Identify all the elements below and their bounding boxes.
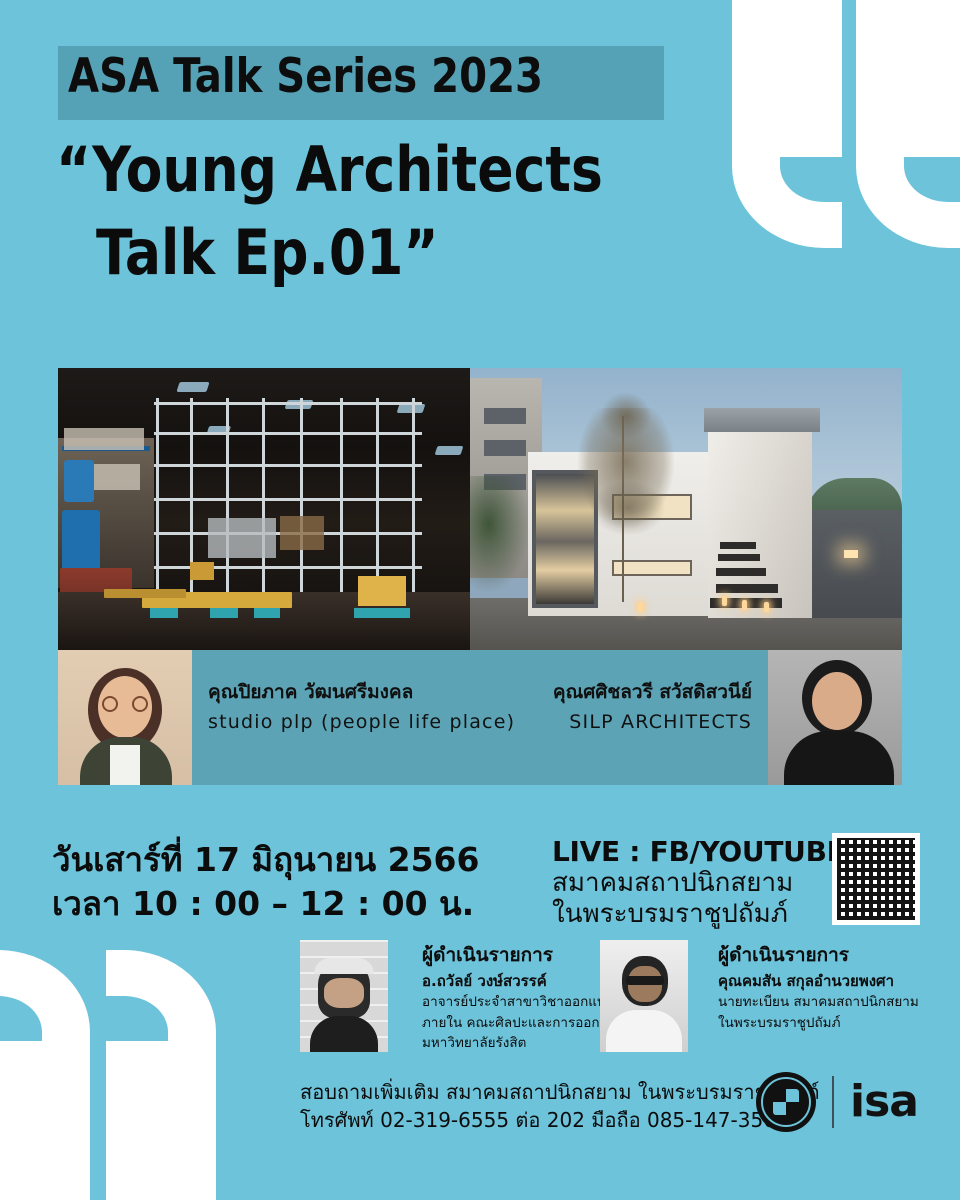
contact-line-2: โทรศัพท์ 02-319-6555 ต่อ 202 มือถือ 085-…: [300, 1106, 819, 1134]
speaker-studio: studio plp (people life place): [208, 707, 515, 737]
speakers-band: คุณปิยภาค วัฒนศรีมงคล studio plp (people…: [58, 650, 902, 785]
live-org-line2: ในพระบรมราชูปถัมภ์: [552, 899, 845, 930]
isa-wordmark: isa: [850, 1080, 918, 1124]
event-time: เวลา 10 : 00 – 12 : 00 น.: [52, 882, 479, 926]
event-date: วันเสาร์ที่ 17 มิถุนายน 2566: [52, 838, 479, 882]
speaker-info-right: คุณศศิชลวรี สวัสดิสวนีย์ SILP ARCHITECTS: [553, 678, 752, 737]
moderator-affiliation-2: ภายใน คณะศิลปะและการออกแบบ: [422, 1013, 625, 1034]
qr-code[interactable]: [832, 833, 920, 925]
speaker-info-left: คุณปิยภาค วัฒนศรีมงคล studio plp (people…: [208, 678, 515, 737]
opening-quote-decoration: [0, 956, 216, 1200]
project-photo-strip: [58, 368, 902, 650]
modern-house-photo: [470, 368, 902, 650]
moderator-name: อ.ถวัลย์ วงษ์สวรรค์: [422, 970, 625, 993]
warehouse-scaffolding-photo: [58, 368, 470, 650]
contact-footer: สอบถามเพิ่มเติม สมาคมสถาปนิกสยาม ในพระบร…: [300, 1078, 819, 1135]
moderator-affiliation-1: นายทะเบียน สมาคมสถาปนิกสยาม: [718, 992, 919, 1013]
moderators-section: ผู้ดำเนินรายการ อ.ถวัลย์ วงษ์สวรรค์ อาจา…: [300, 940, 920, 1058]
speaker-portrait-left: [58, 650, 192, 785]
wall-sconce-light-icon: [844, 550, 858, 558]
moderator-affiliation-3: มหาวิทยาลัยรังสิต: [422, 1033, 625, 1054]
moderator-info-1: ผู้ดำเนินรายการ อ.ถวัลย์ วงษ์สวรรค์ อาจา…: [422, 942, 625, 1054]
speaker-name: คุณศศิชลวรี สวัสดิสวนีย์: [553, 678, 752, 707]
footer-logos: isa: [756, 1072, 918, 1132]
live-org-line1: สมาคมสถาปนิกสยาม: [552, 868, 845, 899]
moderator-role: ผู้ดำเนินรายการ: [718, 942, 919, 970]
series-title: ASA Talk Series 2023: [68, 49, 543, 104]
event-datetime: วันเสาร์ที่ 17 มิถุนายน 2566 เวลา 10 : 0…: [52, 838, 479, 925]
page-title: “Young Architects Talk Ep.01”: [56, 140, 756, 284]
moderator-name: คุณคมสัน สกุลอำนวยพงศา: [718, 970, 919, 993]
moderator-portrait-1: [300, 940, 388, 1052]
moderator-info-2: ผู้ดำเนินรายการ คุณคมสัน สกุลอำนวยพงศา น…: [718, 942, 919, 1033]
quote-glyph-icon: [104, 956, 216, 1200]
asa-seal-logo: [756, 1072, 816, 1132]
series-title-band: ASA Talk Series 2023: [58, 46, 664, 120]
speaker-portrait-right: [768, 650, 902, 785]
live-broadcast-info: LIVE : FB/YOUTUBE สมาคมสถาปนิกสยาม ในพระ…: [552, 836, 845, 930]
logo-divider: [832, 1076, 834, 1128]
headline-line-1: “Young Architects: [56, 140, 728, 201]
closing-quote-decoration: [732, 0, 960, 248]
quote-glyph-icon: [0, 956, 90, 1200]
headline-line-2: Talk Ep.01”: [96, 223, 730, 284]
speaker-name: คุณปิยภาค วัฒนศรีมงคล: [208, 678, 515, 707]
contact-line-1: สอบถามเพิ่มเติม สมาคมสถาปนิกสยาม ในพระบร…: [300, 1078, 819, 1106]
moderator-affiliation-2: ในพระบรมราชูปถัมภ์: [718, 1013, 919, 1034]
speaker-studio: SILP ARCHITECTS: [553, 707, 752, 737]
moderator-portrait-2: [600, 940, 688, 1052]
quote-glyph-icon: [856, 0, 960, 248]
live-channels: LIVE : FB/YOUTUBE: [552, 836, 845, 868]
poster-root: ASA Talk Series 2023 “Young Architects T…: [0, 0, 960, 1200]
moderator-role: ผู้ดำเนินรายการ: [422, 942, 625, 970]
moderator-affiliation-1: อาจารย์ประจำสาขาวิชาออกแบบ: [422, 992, 625, 1013]
